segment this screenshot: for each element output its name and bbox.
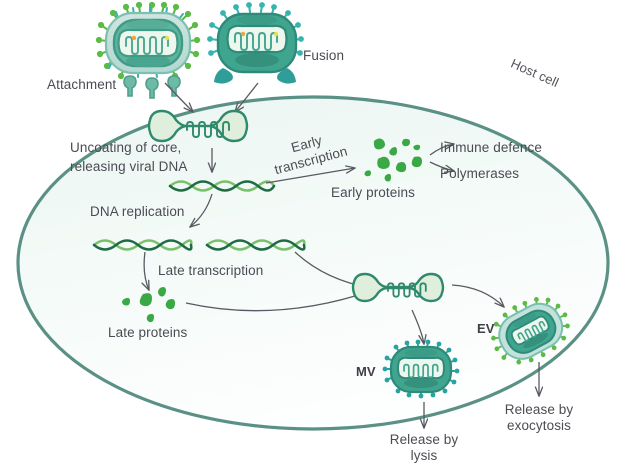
ev-label: EV [477,321,495,336]
virion-fusion [207,2,304,84]
host-cell-label-text: Host cell [509,56,561,90]
attachment-label: Attachment [47,77,116,92]
mv-label: MV [356,364,376,379]
virus-replication-diagram: Host cell [0,0,626,463]
release-lysis-line1: Release by [390,432,459,447]
late-proteins-label: Late proteins [108,325,188,340]
lateral-body-top-mv [405,349,437,357]
late-transcription-label: Late transcription [158,263,263,278]
diagram-canvas: Host cell [0,0,626,463]
receptor-2 [146,78,158,98]
receptor-1 [124,76,136,96]
release-exocytosis-line1: Release by [505,402,574,417]
marker-dot-orange-fusion [241,32,245,36]
immune-defence-label: Immune defence [440,140,542,155]
early-proteins-label: Early proteins [331,185,415,200]
uncoating-label-line2: releasing viral DNA [70,159,187,174]
marker-dot-yellow [165,36,169,40]
lateral-body-top [127,20,169,30]
arrow-attachment-to-core [165,83,193,112]
marker-dot-yellow-fusion [274,32,278,36]
polymerases-label: Polymerases [440,166,519,181]
cell-receptor-group [124,76,180,98]
dna-replication-label: DNA replication [90,204,185,219]
lateral-body-bottom-mv [404,378,438,388]
host-cell-label: Host cell [509,56,561,90]
release-lysis-line2: lysis [411,448,438,463]
fusion-foot-left [214,68,233,84]
uncoating-label-line1: Uncoating of core, [70,140,181,155]
virion-attachment [96,2,200,79]
marker-dot-orange [132,36,136,40]
lateral-body-top-fusion [237,15,277,25]
release-exocytosis-line2: exocytosis [507,418,571,433]
lateral-body-bottom-fusion [235,53,279,67]
protein-blob [377,157,390,169]
fusion-label: Fusion [303,48,344,63]
